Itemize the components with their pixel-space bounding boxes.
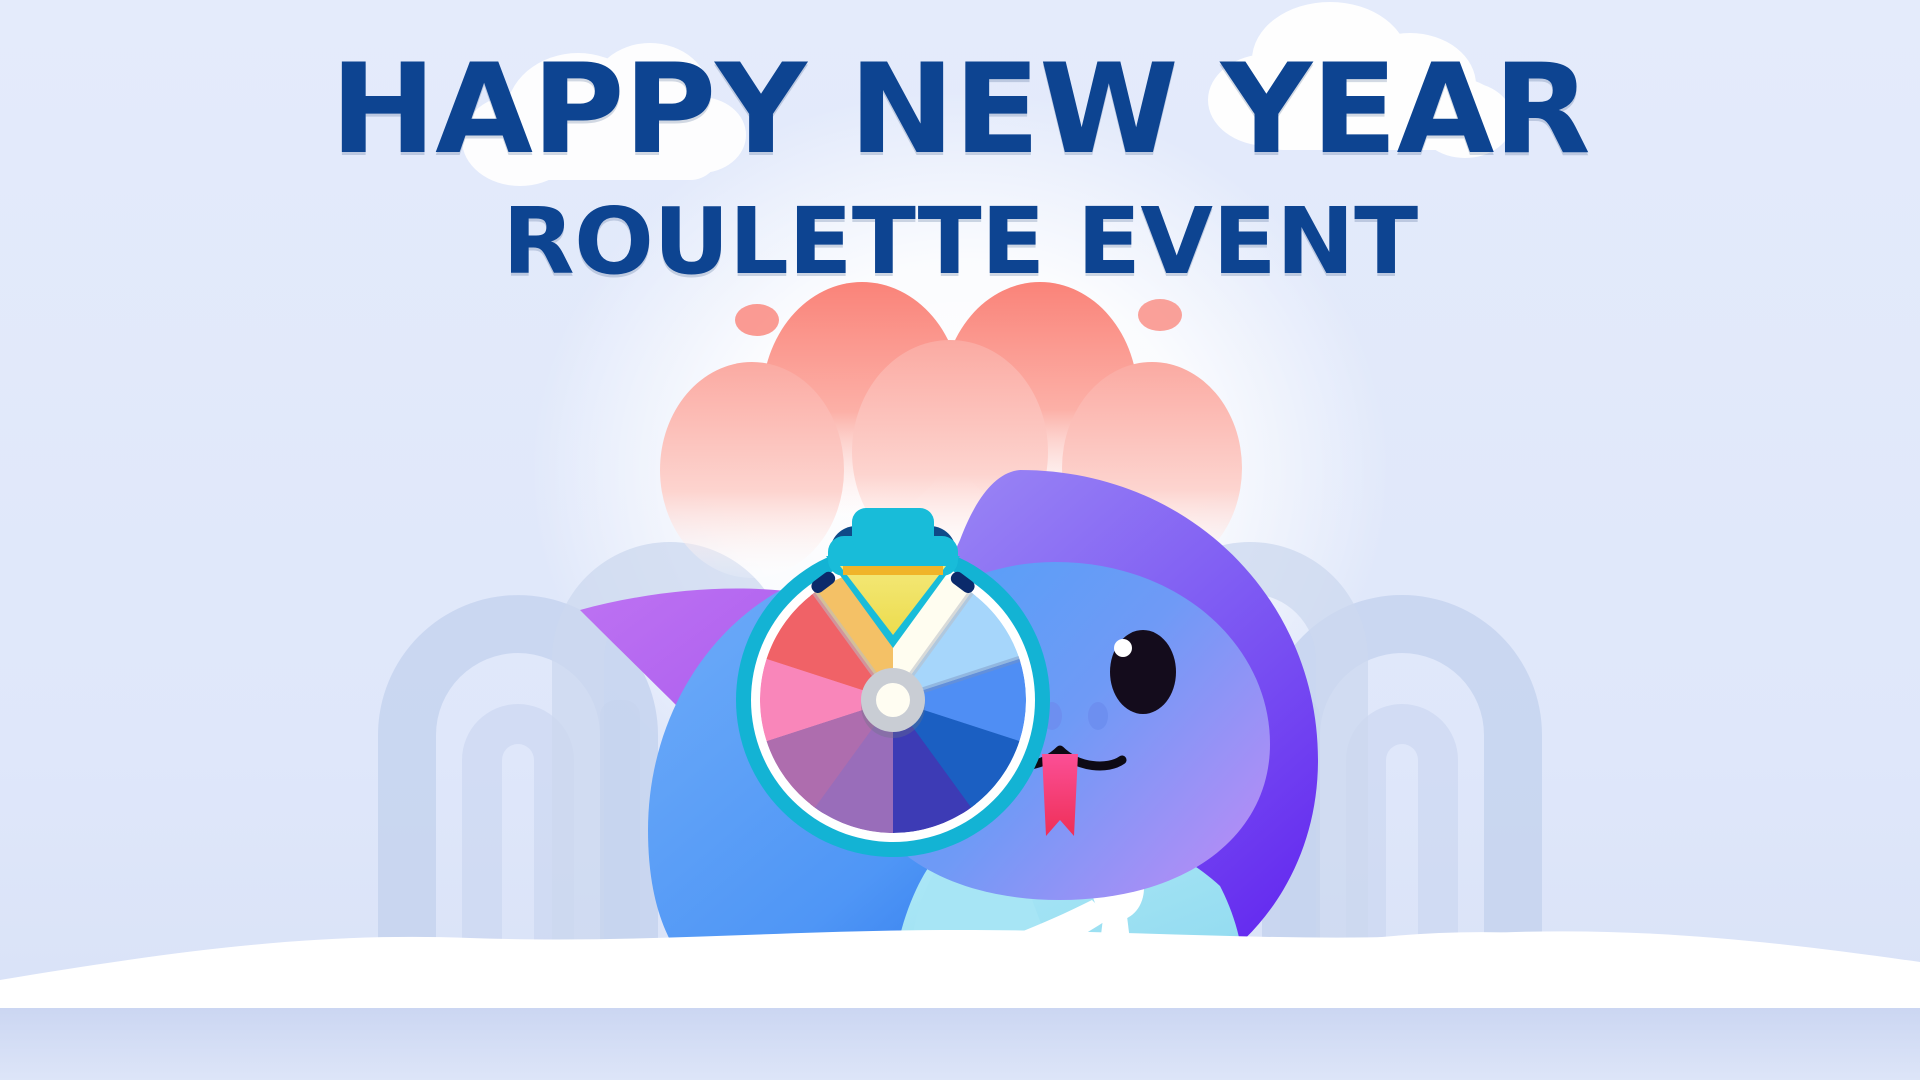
- blossom-petal: [660, 362, 844, 578]
- wheel-pointer-accent: [843, 566, 943, 575]
- wheel-hub-inner: [876, 683, 910, 717]
- banner-illustration: [0, 0, 1920, 1080]
- event-banner: HAPPY NEW YEAR ROULETTE EVENT: [0, 0, 1920, 1080]
- right-eye-highlight: [1114, 639, 1132, 657]
- right-nostril: [1088, 702, 1108, 730]
- ground-plane: [0, 1008, 1920, 1080]
- blossom-petal-small: [1138, 299, 1182, 331]
- blossom-petal-small: [735, 304, 779, 336]
